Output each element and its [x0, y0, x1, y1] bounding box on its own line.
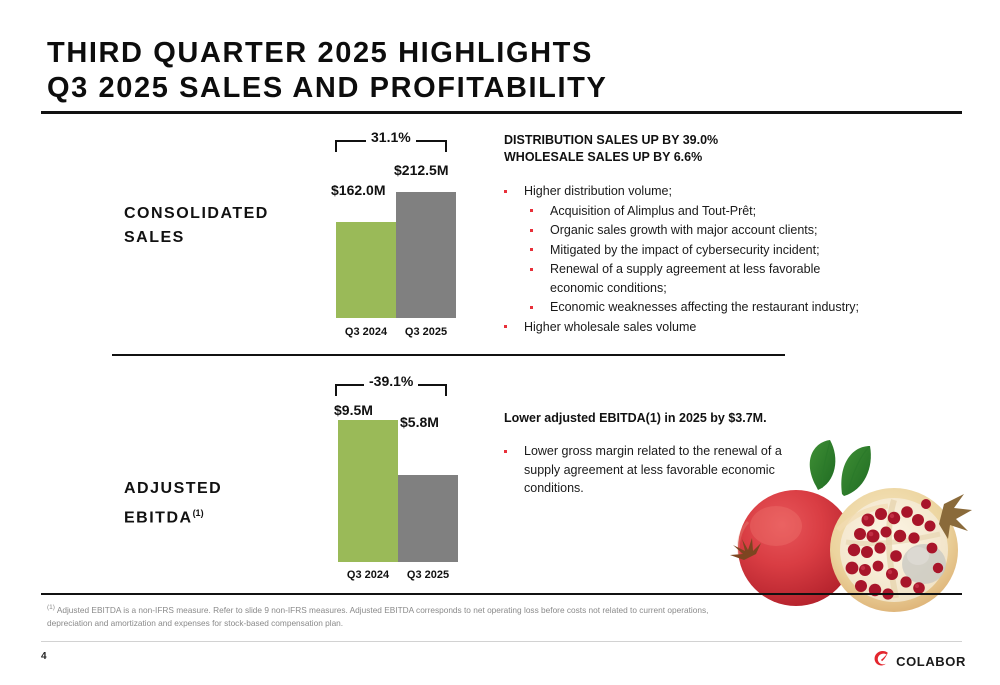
- title-divider: [41, 111, 962, 114]
- section-label-consolidated-sales: CONSOLIDATED SALES: [124, 202, 269, 250]
- footnote-divider: [41, 593, 962, 595]
- consolidated-sales-heading: DISTRIBUTION SALES UP BY 39.0% WHOLESALE…: [504, 132, 718, 166]
- ebitda-heading-line-1: Lower adjusted EBITDA(1) in 2025 by $3.7…: [504, 410, 767, 427]
- section-label-adjusted-ebitda: ADJUSTED EBITDA(1): [124, 477, 222, 530]
- list-item: Higher distribution volume;: [498, 182, 898, 201]
- chart1-bar-q3-2025: [396, 192, 456, 318]
- chart-consolidated-sales: 31.1% $162.0M $212.5M Q3 2024 Q3 2025: [330, 130, 480, 340]
- section-label-line-2: SALES: [124, 226, 269, 250]
- chart2-value-q3-2025: $5.8M: [400, 414, 439, 430]
- chart2-plot: [338, 420, 458, 562]
- footnote-text: Adjusted EBITDA is a non-IFRS measure. R…: [47, 605, 708, 628]
- section-label-footnote-marker: (1): [193, 508, 204, 518]
- chart2-change-label: -39.1%: [364, 373, 418, 389]
- bottom-divider: [41, 641, 962, 642]
- colabor-logo-text: COLABOR: [896, 654, 966, 669]
- title-line-2: Q3 2025 SALES AND PROFITABILITY: [47, 71, 607, 106]
- list-item: Renewal of a supply agreement at less fa…: [498, 260, 843, 297]
- footnote: (1) Adjusted EBITDA is a non-IFRS measur…: [47, 601, 727, 630]
- section-label-line-1: ADJUSTED: [124, 477, 222, 501]
- slide: THIRD QUARTER 2025 HIGHLIGHTS Q3 2025 SA…: [0, 0, 1000, 685]
- list-item: Mitigated by the impact of cybersecurity…: [498, 241, 898, 260]
- chart1-bar-q3-2024: [336, 222, 396, 318]
- section-divider: [112, 354, 785, 356]
- chart1-value-q3-2024: $162.0M: [331, 182, 385, 198]
- page-number: 4: [41, 651, 47, 662]
- section-label-line-2: EBITDA(1): [124, 501, 222, 530]
- chart1-value-q3-2025: $212.5M: [394, 162, 448, 178]
- adjusted-ebitda-heading: Lower adjusted EBITDA(1) in 2025 by $3.7…: [504, 410, 767, 427]
- title-line-1: THIRD QUARTER 2025 HIGHLIGHTS: [47, 36, 607, 71]
- chart1-change-label: 31.1%: [366, 129, 416, 145]
- list-item: Acquisition of Alimplus and Tout-Prêt;: [498, 202, 898, 221]
- consolidated-heading-line-1: DISTRIBUTION SALES UP BY 39.0%: [504, 132, 718, 149]
- chart1-axis-label-q3-2025: Q3 2025: [396, 326, 456, 338]
- leaf-group: [810, 440, 871, 496]
- colabor-logo: COLABOR: [873, 650, 966, 672]
- colabor-swirl-icon: [873, 650, 890, 672]
- footnote-marker: (1): [47, 604, 55, 611]
- section-label-line-1: CONSOLIDATED: [124, 202, 269, 226]
- list-item: Organic sales growth with major account …: [498, 221, 898, 240]
- list-item: Economic weaknesses affecting the restau…: [498, 298, 898, 317]
- consolidated-heading-line-2: WHOLESALE SALES UP BY 6.6%: [504, 149, 718, 166]
- chart2-value-q3-2024: $9.5M: [334, 402, 373, 418]
- page-title: THIRD QUARTER 2025 HIGHLIGHTS Q3 2025 SA…: [47, 36, 607, 106]
- chart2-bar-q3-2024: [338, 420, 398, 562]
- list-item: Higher wholesale sales volume: [498, 318, 898, 337]
- chart-adjusted-ebitda: -39.1% $9.5M $5.8M Q3 2024 Q3 2025: [330, 378, 480, 583]
- chart2-bar-q3-2025: [398, 475, 458, 562]
- chart2-axis-label-q3-2025: Q3 2025: [398, 569, 458, 581]
- consolidated-sales-bullets: Higher distribution volume; Acquisition …: [498, 182, 898, 337]
- chart2-axis-label-q3-2024: Q3 2024: [338, 569, 398, 581]
- chart1-axis-label-q3-2024: Q3 2024: [336, 326, 396, 338]
